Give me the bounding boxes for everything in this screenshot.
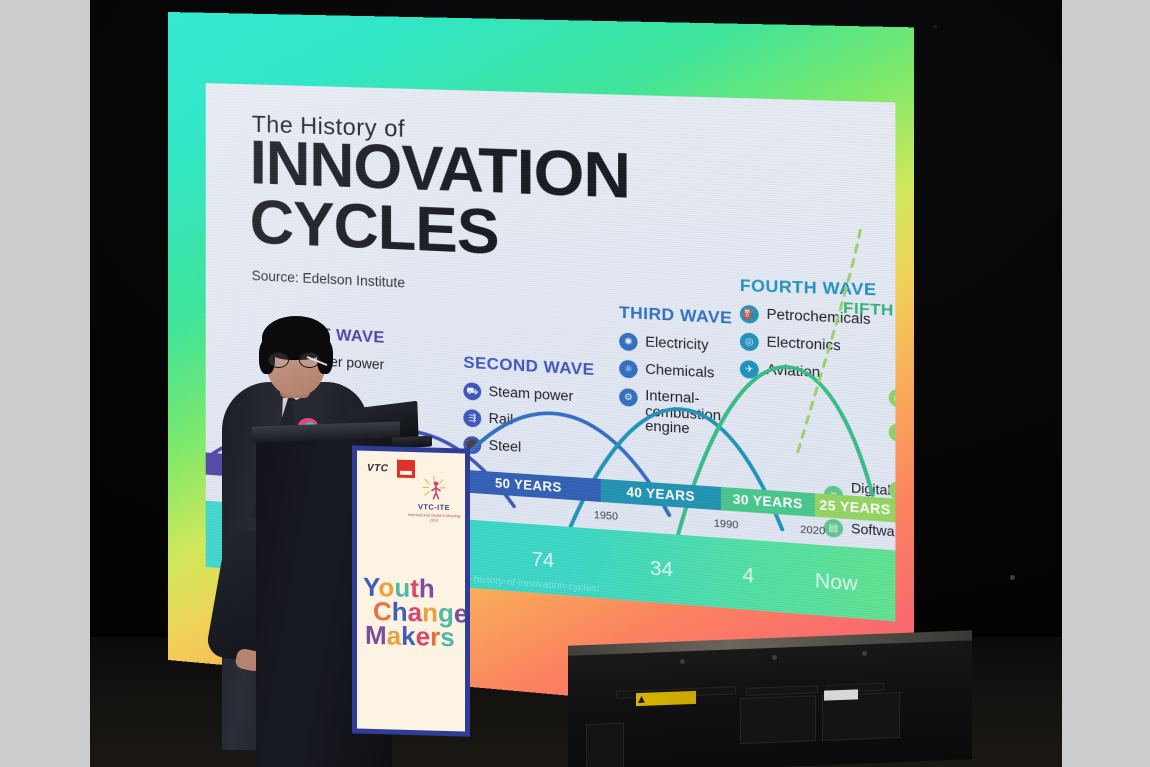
banner-headline-line-3: Makers	[363, 623, 465, 650]
podium-banner: VTC	[352, 445, 470, 736]
warning-label	[636, 691, 696, 706]
letterbox-right	[1062, 0, 1150, 767]
event-logo-mark	[421, 474, 447, 501]
monitor-screw	[862, 651, 867, 656]
photo-frame: The History of INNOVATION CYCLES Source:…	[0, 0, 1150, 767]
years-ago-value: Now	[815, 570, 858, 597]
years-ago-value: 34	[650, 558, 673, 583]
year-tick: 1990	[714, 518, 739, 531]
timeline-segment-label: 30 YEARS	[733, 492, 803, 512]
ceiling-light-speck	[1010, 575, 1015, 580]
vtc-logo: VTC	[367, 463, 389, 475]
monitor-screw	[772, 655, 777, 660]
ceiling-light-speck	[934, 25, 937, 28]
event-logo-name: VTC-ITE	[405, 502, 463, 513]
event-logo: VTC-ITE International Student Meeting 20…	[405, 474, 463, 524]
year-tick: 1950	[594, 510, 618, 523]
years-ago-value: 4	[742, 565, 754, 589]
monitor-stand-mount	[586, 723, 624, 767]
banner-headline: Youth Change Makers	[363, 576, 465, 651]
years-ago-value: 74	[532, 549, 555, 574]
timeline-segment-label: 40 YEARS	[626, 485, 694, 504]
letterbox-left	[0, 0, 90, 767]
monitor-port-bay	[740, 695, 816, 744]
podium-banner-face: VTC	[357, 450, 465, 731]
year-tick: 2020	[800, 524, 825, 538]
spec-label	[824, 689, 858, 700]
timeline-segment-label: 50 YEARS	[495, 476, 562, 495]
monitor-screw	[680, 659, 685, 664]
starburst-figure-icon	[421, 474, 447, 501]
stage-confidence-monitor	[568, 635, 972, 767]
monitor-vent-panel	[746, 685, 818, 696]
glasses-lens-left	[268, 352, 289, 368]
event-logo-subtitle: International Student Meeting 2024	[405, 512, 463, 524]
timeline-segment-label: 25 YEARS	[819, 498, 890, 518]
